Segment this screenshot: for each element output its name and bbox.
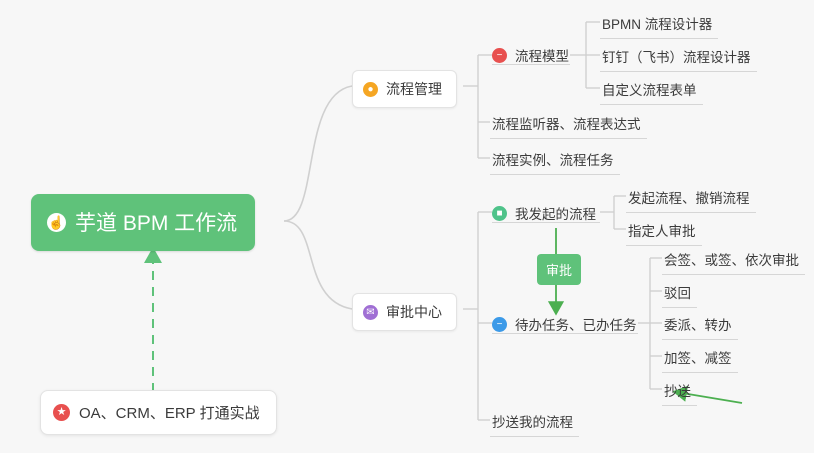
node-multi-approve[interactable]: 会签、或签、依次审批: [662, 247, 805, 275]
node-listener-expression-label: 流程监听器、流程表达式: [492, 117, 641, 132]
branch-process-management[interactable]: ● 流程管理: [352, 70, 457, 108]
node-custom-form[interactable]: 自定义流程表单: [600, 77, 703, 105]
node-cc[interactable]: 抄送: [662, 378, 697, 406]
node-process-model-label: 流程模型: [515, 45, 569, 65]
link-root-to-process-management: [284, 86, 352, 221]
mindmap-canvas: ☝ 芋道 BPM 工作流 ● 流程管理 − 流程模型 BPMN 流程设计器 钉钉…: [0, 0, 814, 453]
node-bpmn-designer[interactable]: BPMN 流程设计器: [600, 11, 718, 39]
node-listener-expression[interactable]: 流程监听器、流程表达式: [490, 111, 647, 139]
node-instance-task[interactable]: 流程实例、流程任务: [490, 147, 620, 175]
callout-approval-tag[interactable]: 审批: [537, 254, 581, 285]
node-process-model[interactable]: − 流程模型: [492, 43, 575, 70]
node-todo-done-label: 待办任务、已办任务: [515, 314, 637, 334]
branch-approval-center[interactable]: ✉ 审批中心: [352, 293, 457, 331]
node-multi-approve-label: 会签、或签、依次审批: [664, 253, 799, 268]
minus-square-icon: −: [492, 317, 507, 332]
node-delegate-transfer[interactable]: 委派、转办: [662, 312, 738, 340]
node-start-cancel[interactable]: 发起流程、撤销流程: [626, 185, 756, 213]
node-assign-approver[interactable]: 指定人审批: [626, 218, 702, 246]
callout-approval-tag-label: 审批: [546, 263, 572, 278]
node-reject-label: 驳回: [664, 286, 691, 301]
card-integration-label: OA、CRM、ERP 打通实战: [79, 402, 260, 423]
node-bpmn-designer-label: BPMN 流程设计器: [602, 17, 712, 32]
square-icon: ■: [492, 206, 507, 221]
link-root-to-approval-center: [284, 221, 352, 309]
branch-approval-center-label: 审批中心: [386, 302, 442, 322]
node-add-reduce-sign[interactable]: 加签、减签: [662, 345, 738, 373]
node-instance-task-label: 流程实例、流程任务: [492, 153, 614, 168]
node-cc-to-me-label: 抄送我的流程: [492, 415, 573, 430]
root-node[interactable]: ☝ 芋道 BPM 工作流: [31, 194, 255, 251]
node-my-started-label: 我发起的流程: [515, 203, 596, 223]
minus-circle-icon: −: [492, 48, 507, 63]
underline-my-started: [492, 222, 600, 223]
message-icon: ✉: [363, 305, 378, 320]
node-my-started[interactable]: ■ 我发起的流程: [492, 201, 602, 228]
branch-process-management-label: 流程管理: [386, 79, 442, 99]
node-cc-to-me[interactable]: 抄送我的流程: [490, 409, 579, 437]
node-cc-label: 抄送: [664, 384, 691, 399]
underline-todo-done: [492, 333, 638, 334]
node-custom-form-label: 自定义流程表单: [602, 83, 697, 98]
thumbs-up-icon: ☝: [47, 213, 66, 232]
node-assign-approver-label: 指定人审批: [628, 224, 696, 239]
node-add-reduce-sign-label: 加签、减签: [664, 351, 732, 366]
node-todo-done[interactable]: − 待办任务、已办任务: [492, 312, 643, 339]
pin-icon: ●: [363, 82, 378, 97]
node-start-cancel-label: 发起流程、撤销流程: [628, 191, 750, 206]
underline-process-model: [492, 64, 570, 65]
node-delegate-transfer-label: 委派、转办: [664, 318, 732, 333]
node-dingtalk-designer[interactable]: 钉钉（飞书）流程设计器: [600, 44, 757, 72]
root-label: 芋道 BPM 工作流: [75, 207, 237, 237]
star-icon: ★: [53, 404, 70, 421]
card-integration[interactable]: ★ OA、CRM、ERP 打通实战: [40, 390, 277, 435]
node-reject[interactable]: 驳回: [662, 280, 697, 308]
node-dingtalk-designer-label: 钉钉（飞书）流程设计器: [602, 50, 751, 65]
